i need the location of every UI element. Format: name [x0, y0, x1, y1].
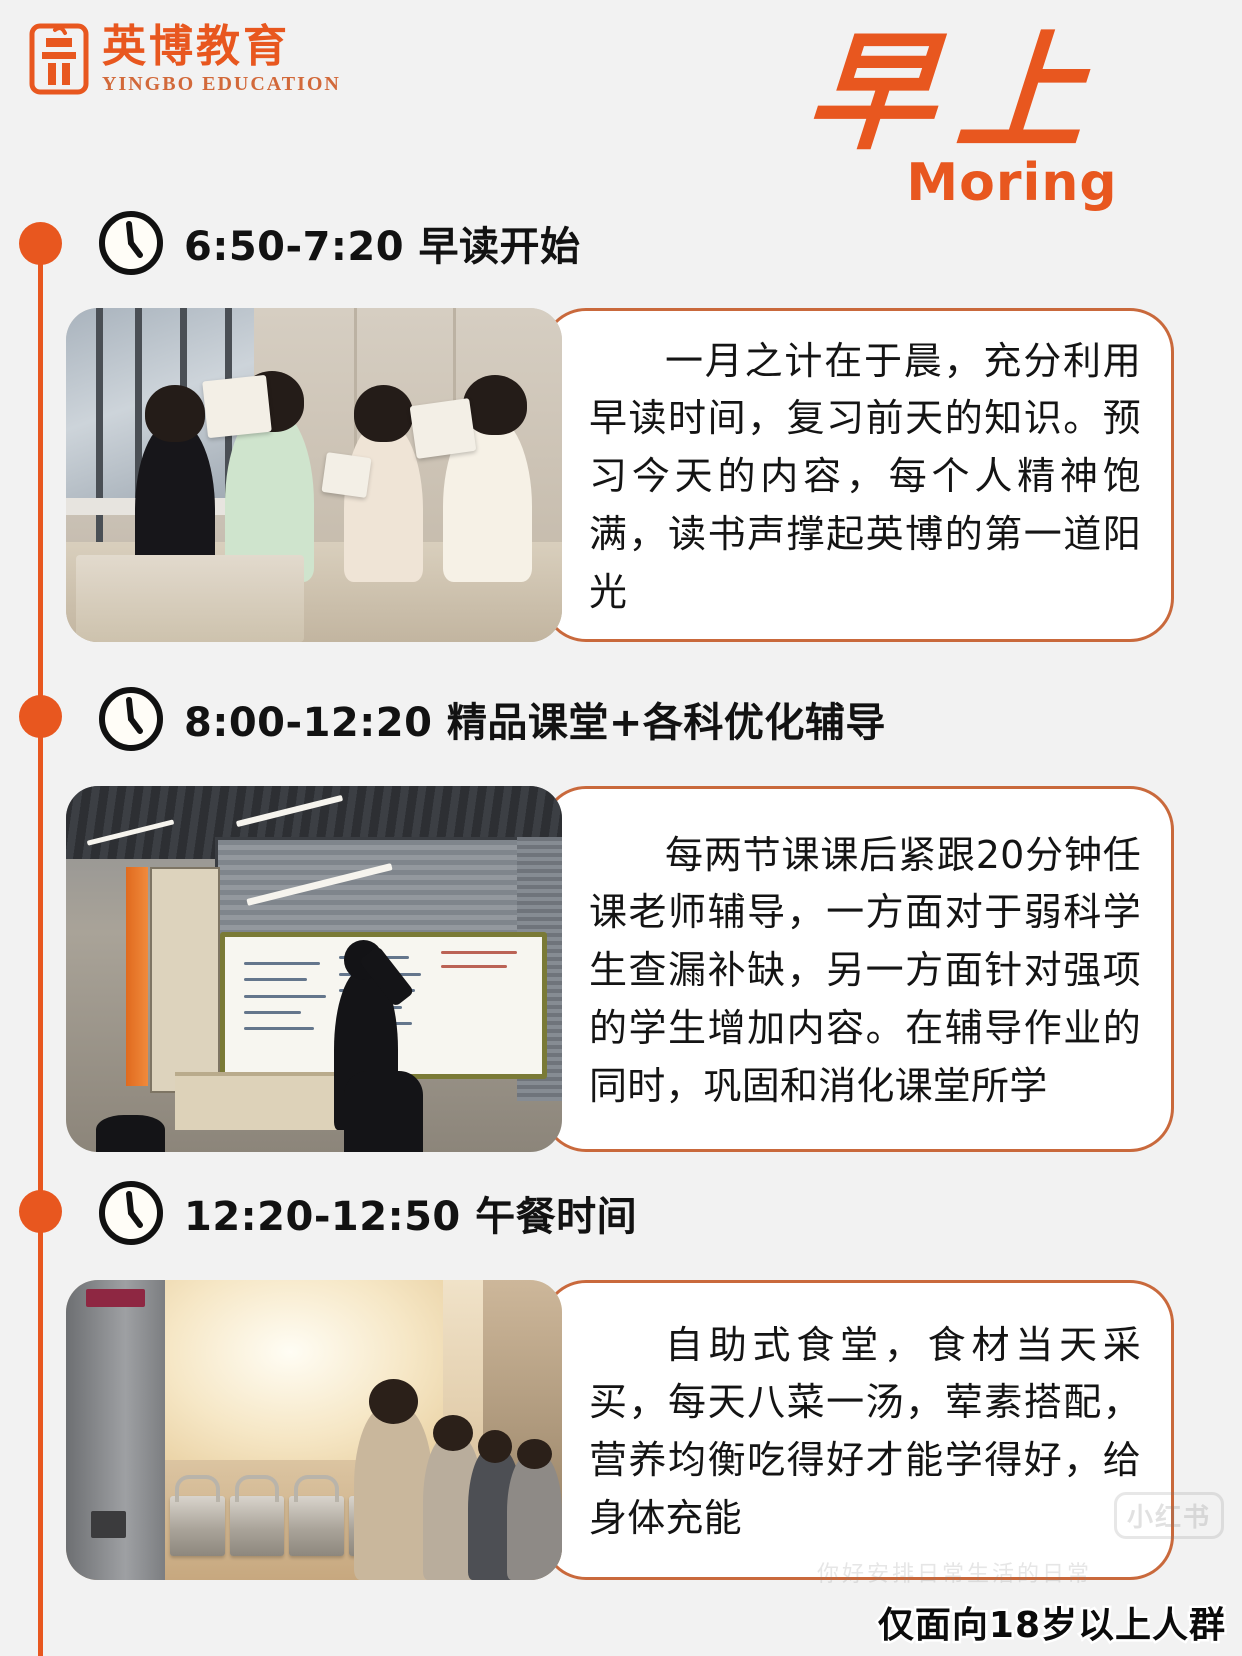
timeline-body-3: 自助式食堂，食材当天采买，每天八菜一汤，荤素搭配，营养均衡吃得好才能学得好，给身… — [589, 1317, 1141, 1548]
poster-page: 英博教育 YINGBO EDUCATION 早上 Moring 6:50-7:2… — [0, 0, 1242, 1656]
timeline-title-1: 6:50-7:20 早读开始 — [184, 214, 581, 272]
page-title: 早上 Moring — [792, 20, 1122, 209]
age-restriction-note: 仅面向18岁以上人群 — [878, 1596, 1226, 1648]
timeline-header-1: 6:50-7:20 早读开始 — [96, 208, 581, 278]
brand-name-cn: 英博教育 — [102, 23, 341, 71]
timeline-title-2: 8:00-12:20 精品课堂+各科优化辅导 — [184, 690, 886, 748]
clock-icon — [96, 684, 166, 754]
timeline-block-2: 每两节课课后紧跟20分钟任课老师辅导，一方面对于弱科学生查漏补缺，另一方面针对强… — [66, 786, 1174, 1152]
yingbo-seal-icon — [28, 22, 90, 96]
brand-wordmark: 英博教育 YINGBO EDUCATION — [102, 23, 341, 95]
timeline-header-2: 8:00-12:20 精品课堂+各科优化辅导 — [96, 684, 886, 754]
timeline-dot-1 — [19, 222, 62, 265]
timeline-photo-1 — [66, 308, 562, 642]
clock-icon — [96, 1178, 166, 1248]
timeline-body-2: 每两节课课后紧跟20分钟任课老师辅导，一方面对于弱科学生查漏补缺，另一方面针对强… — [589, 827, 1141, 1116]
timeline-dot-3 — [19, 1190, 62, 1233]
timeline-text-card-2: 每两节课课后紧跟20分钟任课老师辅导，一方面对于弱科学生查漏补缺，另一方面针对强… — [542, 786, 1174, 1152]
brand-logo: 英博教育 YINGBO EDUCATION — [28, 22, 341, 96]
timeline-body-1: 一月之计在于晨，充分利用早读时间，复习前天的知识。预习今天的内容，每个人精神饱满… — [589, 333, 1141, 622]
headline-chinese: 早上 — [787, 20, 1127, 167]
clock-icon — [96, 208, 166, 278]
timeline-photo-3 — [66, 1280, 562, 1580]
timeline-block-1: 一月之计在于晨，充分利用早读时间，复习前天的知识。预习今天的内容，每个人精神饱满… — [66, 308, 1174, 642]
timeline-rail — [38, 243, 43, 1656]
timeline-text-card-1: 一月之计在于晨，充分利用早读时间，复习前天的知识。预习今天的内容，每个人精神饱满… — [542, 308, 1174, 642]
timeline-dot-2 — [19, 695, 62, 738]
timeline-header-3: 12:20-12:50 午餐时间 — [96, 1178, 637, 1248]
timeline-block-3: 自助式食堂，食材当天采买，每天八菜一汤，荤素搭配，营养均衡吃得好才能学得好，给身… — [66, 1280, 1174, 1580]
timeline-photo-2 — [66, 786, 562, 1152]
timeline-title-3: 12:20-12:50 午餐时间 — [184, 1184, 637, 1242]
xiaohongshu-watermark: 小红书 — [1114, 1492, 1224, 1539]
watermark-handle: 你好安排日常生活的日常 — [817, 1556, 1092, 1588]
brand-name-en: YINGBO EDUCATION — [102, 73, 341, 95]
timeline-text-card-3: 自助式食堂，食材当天采买，每天八菜一汤，荤素搭配，营养均衡吃得好才能学得好，给身… — [542, 1280, 1174, 1580]
